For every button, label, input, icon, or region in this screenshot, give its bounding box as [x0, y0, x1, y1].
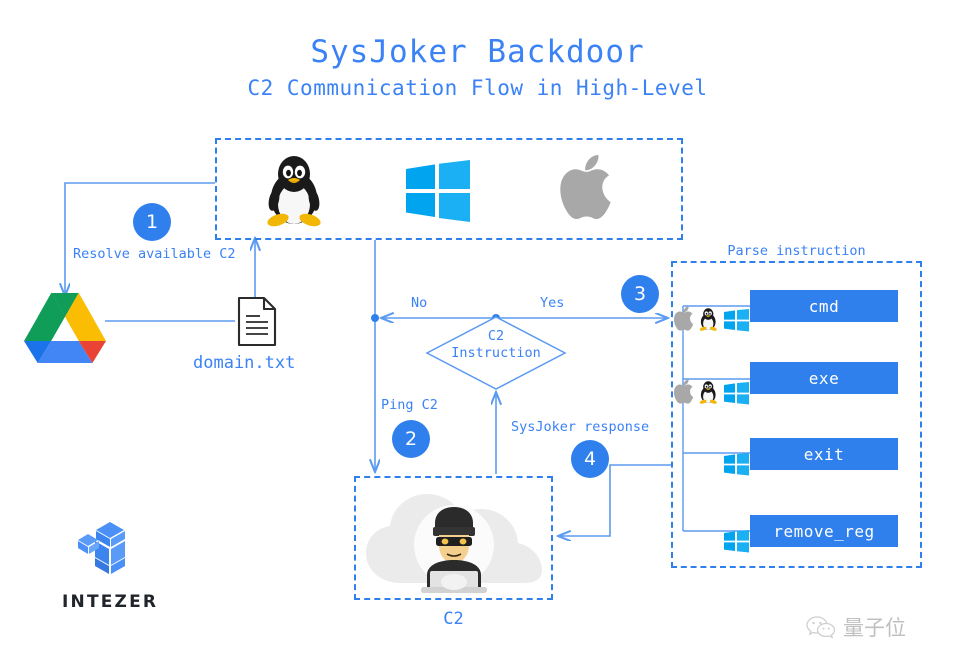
- hacker-cloud-icon: [363, 483, 545, 593]
- edge-parse-to-c2: [558, 465, 672, 536]
- no-branch-junction-dot: [371, 314, 379, 322]
- linux-penguin-icon: [262, 152, 326, 228]
- intezer-wordmark: INTEZER: [62, 592, 158, 612]
- command-box-exit[interactable]: exit: [750, 438, 898, 470]
- decision-label-line1: C2: [424, 328, 568, 344]
- label-yes: Yes: [540, 295, 564, 311]
- label-resolve-available-c2: Resolve available C2: [73, 246, 236, 262]
- platform-icons-exit: [724, 453, 750, 477]
- edge-os-to-drive: [65, 183, 215, 296]
- apple-logo-icon: [565, 155, 617, 219]
- windows-logo-icon: [406, 160, 470, 222]
- intezer-cube-logo: [78, 520, 142, 584]
- step-2-number: 2: [405, 428, 417, 450]
- platform-icons-exe: [676, 379, 750, 405]
- step-1-badge: 1: [133, 203, 171, 241]
- platform-icons-cmd: [676, 306, 750, 332]
- step-4-badge: 4: [571, 440, 609, 478]
- c2-caption: C2: [354, 609, 553, 629]
- command-label: remove_reg: [773, 522, 874, 541]
- command-box-remove-reg[interactable]: remove_reg: [750, 515, 898, 547]
- domain-file-label: domain.txt: [193, 353, 295, 373]
- linux-penguin-icon: [699, 308, 717, 331]
- wechat-icon: [806, 615, 836, 639]
- step-4-number: 4: [584, 448, 596, 470]
- windows-logo-icon: [724, 309, 749, 332]
- google-drive-icon: [24, 291, 106, 363]
- windows-logo-icon: [724, 382, 749, 405]
- diagram-canvas: SysJoker Backdoor C2 Communication Flow …: [0, 0, 955, 665]
- label-sysjoker-response: SysJoker response: [511, 419, 649, 435]
- decision-label-line2: Instruction: [424, 345, 568, 361]
- command-label: exe: [809, 369, 839, 388]
- step-2-badge: 2: [392, 420, 430, 458]
- command-label: cmd: [809, 297, 839, 316]
- command-label: exit: [804, 445, 845, 464]
- step-3-badge: 3: [621, 275, 659, 313]
- label-ping-c2: Ping C2: [381, 397, 438, 413]
- step-3-number: 3: [634, 283, 646, 305]
- label-no: No: [411, 295, 427, 311]
- windows-logo-icon: [724, 453, 750, 477]
- document-icon: [236, 296, 278, 348]
- linux-penguin-icon: [699, 381, 717, 404]
- command-box-exe[interactable]: exe: [750, 362, 898, 394]
- watermark: 量子位: [806, 612, 906, 642]
- apple-logo-icon: [674, 307, 693, 331]
- platform-icons-remove-reg: [724, 530, 750, 554]
- windows-logo-icon: [724, 530, 750, 554]
- command-box-cmd[interactable]: cmd: [750, 290, 898, 322]
- parse-instruction-heading: Parse instruction: [671, 243, 922, 259]
- step-1-number: 1: [146, 211, 158, 233]
- apple-logo-icon: [674, 380, 693, 404]
- watermark-text: 量子位: [843, 612, 906, 642]
